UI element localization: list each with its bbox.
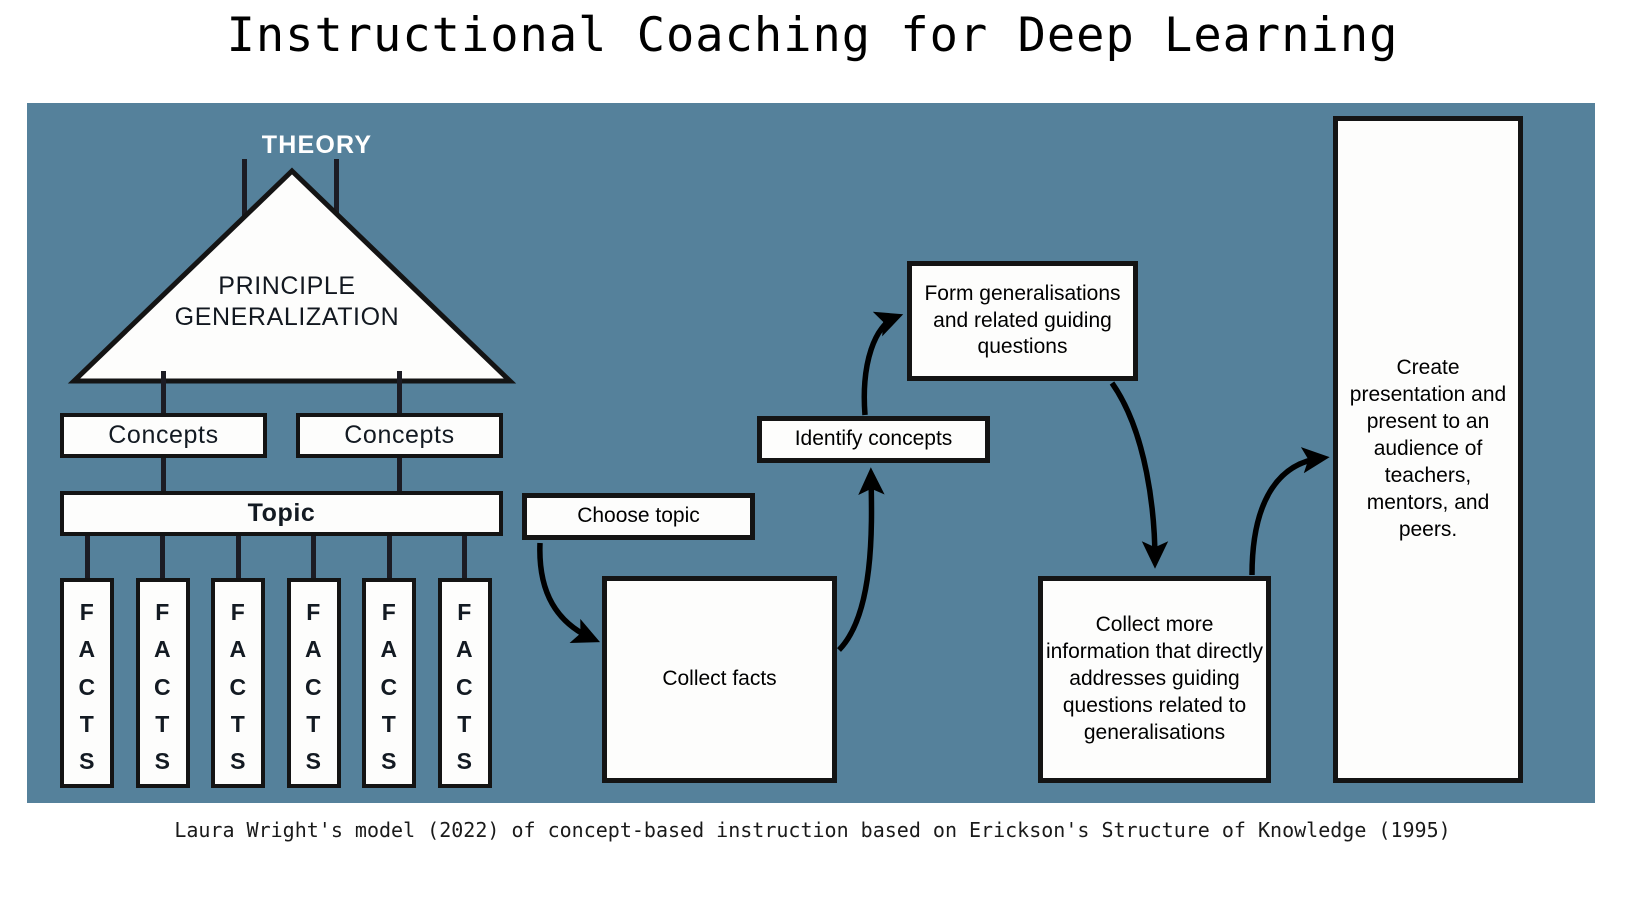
pyramid-label: PRINCIPLE GENERALIZATION (122, 271, 452, 332)
flow-step-collect-more-information: Collect more information that directly a… (1038, 576, 1271, 783)
facts-box-1-letter-2: A (78, 631, 95, 668)
facts-box-1-letter-4: T (80, 706, 95, 743)
facts-box-6-letter-4: T (457, 706, 472, 743)
concepts-box-2-label: Concepts (344, 421, 454, 450)
facts-box-6-letter-1: F (457, 594, 472, 631)
concepts-box-1-label: Concepts (108, 421, 218, 450)
topic-to-facts-1-connector (85, 536, 90, 578)
arrow-identify-concepts-to-form-generalisations (864, 317, 896, 415)
facts-box-4-letter-4: T (306, 706, 321, 743)
facts-box-4-letter-3: C (305, 669, 322, 706)
diagram-panel: THEORY PRINCIPLE GENERALIZATION Concepts… (27, 103, 1595, 803)
concepts-box-1: Concepts (60, 413, 267, 458)
facts-box-3-letter-4: T (231, 706, 246, 743)
flow-step-identify-concepts: Identify concepts (757, 416, 990, 463)
facts-box-2-letter-4: T (155, 706, 170, 743)
facts-box-5-letter-1: F (382, 594, 397, 631)
flow-step-form-generalisations-label: Form generalisations and related guiding… (912, 281, 1133, 362)
pyramid-label-line-1: PRINCIPLE (122, 271, 452, 302)
facts-box-4-letter-2: A (305, 631, 322, 668)
facts-box-6: FACTS (438, 578, 492, 788)
flow-step-create-presentation-label: Create presentation and present to an au… (1338, 355, 1518, 543)
concepts-1-to-topic-connector (161, 458, 166, 491)
facts-box-5-letter-5: S (381, 743, 397, 780)
page-title: Instructional Coaching for Deep Learning (0, 8, 1625, 63)
facts-box-3: FACTS (211, 578, 265, 788)
facts-box-2-letter-1: F (155, 594, 170, 631)
facts-box-5: FACTS (362, 578, 416, 788)
facts-box-5-letter-4: T (382, 706, 397, 743)
concepts-box-2: Concepts (296, 413, 503, 458)
pyramid-to-concepts-2-connector (397, 371, 402, 413)
facts-box-4-letter-5: S (306, 743, 322, 780)
facts-box-2-letter-2: A (154, 631, 171, 668)
facts-box-6-letter-2: A (456, 631, 473, 668)
flow-step-collect-facts: Collect facts (602, 576, 837, 783)
flow-step-form-generalisations: Form generalisations and related guiding… (907, 261, 1138, 381)
flow-step-collect-facts-label: Collect facts (662, 666, 776, 693)
flow-step-collect-more-information-label: Collect more information that directly a… (1043, 612, 1266, 746)
flow-step-choose-topic: Choose topic (522, 493, 755, 540)
facts-box-5-letter-3: C (380, 669, 397, 706)
theory-label: THEORY (217, 131, 417, 160)
facts-box-2: FACTS (136, 578, 190, 788)
flow-step-choose-topic-label: Choose topic (577, 503, 700, 530)
flow-step-create-presentation: Create presentation and present to an au… (1333, 116, 1523, 783)
facts-box-6-letter-5: S (457, 743, 473, 780)
caption: Laura Wright's model (2022) of concept-b… (0, 818, 1625, 842)
topic-to-facts-5-connector (387, 536, 392, 578)
arrow-collect-more-to-create-presentation (1252, 458, 1322, 575)
facts-box-3-letter-3: C (229, 669, 246, 706)
pyramid-to-concepts-1-connector (161, 371, 166, 413)
facts-box-5-letter-2: A (380, 631, 397, 668)
facts-box-3-letter-5: S (230, 743, 246, 780)
topic-to-facts-4-connector (311, 536, 316, 578)
pyramid-label-line-2: GENERALIZATION (122, 302, 452, 333)
facts-box-4-letter-1: F (306, 594, 321, 631)
facts-box-1: FACTS (60, 578, 114, 788)
facts-box-6-letter-3: C (456, 669, 473, 706)
facts-box-1-letter-3: C (78, 669, 95, 706)
facts-box-1-letter-1: F (80, 594, 95, 631)
facts-box-3-letter-1: F (231, 594, 246, 631)
arrow-collect-facts-to-identify-concepts (839, 475, 872, 650)
arrow-choose-topic-to-collect-facts (540, 543, 593, 639)
facts-box-2-letter-3: C (154, 669, 171, 706)
arrow-form-generalisations-to-collect-more (1112, 383, 1155, 561)
topic-box: Topic (60, 491, 503, 536)
facts-box-1-letter-5: S (79, 743, 95, 780)
topic-to-facts-3-connector (236, 536, 241, 578)
flow-step-identify-concepts-label: Identify concepts (795, 426, 953, 453)
facts-box-4: FACTS (287, 578, 341, 788)
topic-box-label: Topic (248, 499, 316, 528)
facts-box-2-letter-5: S (155, 743, 171, 780)
concepts-2-to-topic-connector (397, 458, 402, 491)
topic-to-facts-6-connector (462, 536, 467, 578)
facts-box-3-letter-2: A (229, 631, 246, 668)
topic-to-facts-2-connector (160, 536, 165, 578)
